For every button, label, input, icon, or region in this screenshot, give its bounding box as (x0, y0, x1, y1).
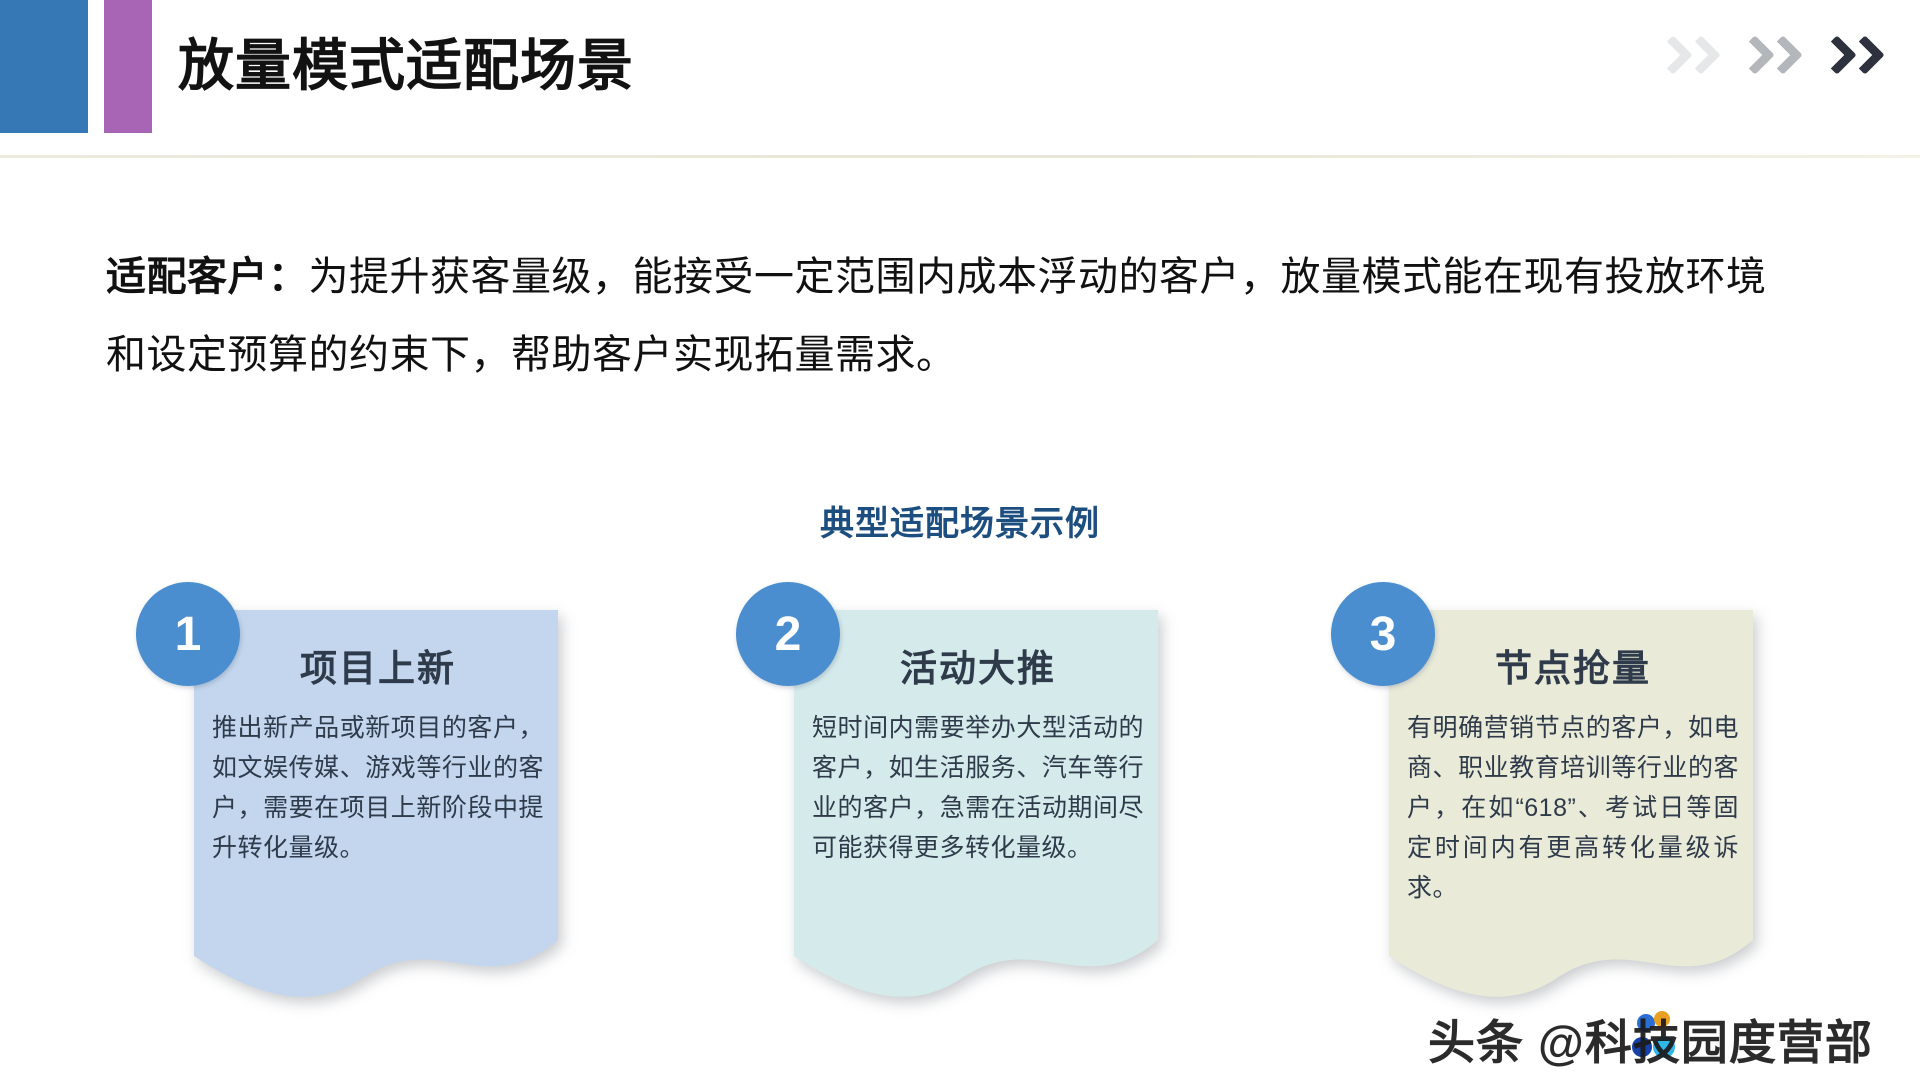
header-divider (0, 155, 1920, 158)
page-title: 放量模式适配场景 (178, 26, 634, 106)
watermark-text: 头条 @科技园度营部 (1428, 1004, 1873, 1073)
card-content-1: 项目上新 推出新产品或新项目的客户，如文娱传媒、游戏等行业的客户，需要在项目上新… (186, 610, 566, 1018)
section-subtitle: 典型适配场景示例 (0, 496, 1920, 545)
card-number-badge-2: 2 (736, 582, 840, 686)
accent-bar-purple (104, 0, 152, 133)
chevron-right-icon (1684, 34, 1710, 78)
chevron-right-icon (1766, 34, 1792, 78)
card-text-3: 有明确营销节点的客户，如电商、职业教育培训等行业的客户，在如“618”、考试日等… (1407, 708, 1739, 908)
card-heading-2: 活动大推 (812, 638, 1144, 692)
slide-root: 放量模式适配场景 适配客户：为提升获客量级，能接受一定范围内成本浮动的客户，放量… (0, 0, 1920, 1080)
chevron-right-icon (1820, 34, 1846, 78)
slide-header: 放量模式适配场景 (0, 0, 1920, 156)
scenario-card-1[interactable]: 项目上新 推出新产品或新项目的客户，如文娱传媒、游戏等行业的客户，需要在项目上新… (136, 582, 566, 1032)
card-content-3: 节点抢量 有明确营销节点的客户，如电商、职业教育培训等行业的客户，在如“618”… (1381, 610, 1761, 1018)
chevron-group-mid-icon (1738, 34, 1792, 78)
card-heading-3: 节点抢量 (1407, 638, 1739, 692)
chevron-right-icon (1848, 34, 1874, 78)
chevron-group-dark-icon (1820, 34, 1874, 78)
intro-body-text: 为提升获客量级，能接受一定范围内成本浮动的客户，放量模式能在现有投放环境和设定预… (106, 255, 1767, 377)
card-text-2: 短时间内需要举办大型活动的客户，如生活服务、汽车等行业的客户，急需在活动期间尽可… (812, 708, 1144, 868)
chevron-decoration (1656, 34, 1874, 78)
card-text-1: 推出新产品或新项目的客户，如文娱传媒、游戏等行业的客户，需要在项目上新阶段中提升… (212, 708, 544, 868)
card-number-badge-3: 3 (1331, 582, 1435, 686)
card-heading-1: 项目上新 (212, 638, 544, 692)
intro-paragraph: 适配客户：为提升获客量级，能接受一定范围内成本浮动的客户，放量模式能在现有投放环… (106, 238, 1806, 394)
scenario-cards: 项目上新 推出新产品或新项目的客户，如文娱传媒、游戏等行业的客户，需要在项目上新… (96, 582, 1856, 1032)
chevron-right-icon (1656, 34, 1682, 78)
card-number-badge-1: 1 (136, 582, 240, 686)
chevron-group-light-icon (1656, 34, 1710, 78)
chevron-right-icon (1738, 34, 1764, 78)
accent-bar-blue (0, 0, 88, 133)
card-content-2: 活动大推 短时间内需要举办大型活动的客户，如生活服务、汽车等行业的客户，急需在活… (786, 610, 1166, 1018)
scenario-card-3[interactable]: 节点抢量 有明确营销节点的客户，如电商、职业教育培训等行业的客户，在如“618”… (1331, 582, 1761, 1032)
scenario-card-2[interactable]: 活动大推 短时间内需要举办大型活动的客户，如生活服务、汽车等行业的客户，急需在活… (736, 582, 1166, 1032)
intro-lead-label: 适配客户： (106, 255, 309, 299)
